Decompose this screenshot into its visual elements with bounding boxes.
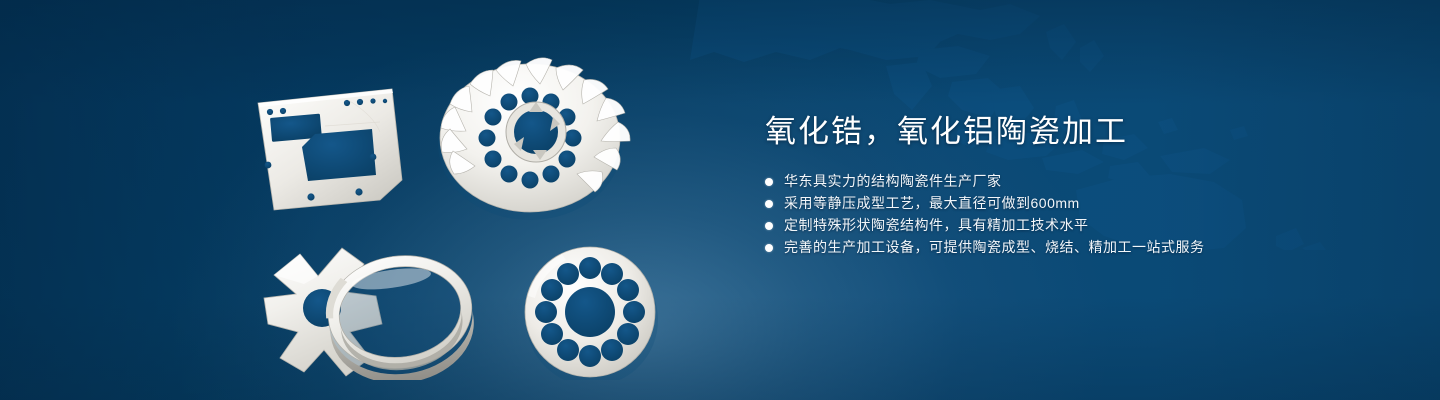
bullet-dot-icon [765, 200, 773, 208]
feature-text: 华东具实力的结构陶瓷件生产厂家 [784, 171, 1002, 192]
feature-list: 华东具实力的结构陶瓷件生产厂家 采用等静压成型工艺，最大直径可做到600mm 定… [765, 171, 1365, 258]
page-title: 氧化锆，氧化铝陶瓷加工 [765, 112, 1365, 152]
feature-text: 采用等静压成型工艺，最大直径可做到600mm [784, 193, 1080, 214]
bullet-dot-icon [765, 222, 773, 230]
product-photo-collage [230, 40, 690, 380]
list-item: 采用等静压成型工艺，最大直径可做到600mm [765, 193, 1365, 214]
hero-text-block: 氧化锆，氧化铝陶瓷加工 华东具实力的结构陶瓷件生产厂家 采用等静压成型工艺，最大… [765, 112, 1365, 259]
list-item: 完善的生产加工设备，可提供陶瓷成型、烧结、精加工一站式服务 [765, 237, 1365, 258]
feature-text: 定制特殊形状陶瓷结构件，具有精加工技术水平 [784, 215, 1089, 236]
bullet-dot-icon [765, 244, 773, 252]
ceramic-perforated-disc-part [525, 247, 658, 380]
list-item: 定制特殊形状陶瓷结构件，具有精加工技术水平 [765, 215, 1365, 236]
ceramic-plate-part [258, 89, 402, 210]
hero-banner: 氧化锆，氧化铝陶瓷加工 华东具实力的结构陶瓷件生产厂家 采用等静压成型工艺，最大… [0, 0, 1440, 400]
bullet-dot-icon [765, 178, 773, 186]
ceramic-impeller-part [438, 58, 630, 220]
feature-text: 完善的生产加工设备，可提供陶瓷成型、烧结、精加工一站式服务 [784, 237, 1205, 258]
list-item: 华东具实力的结构陶瓷件生产厂家 [765, 171, 1365, 192]
